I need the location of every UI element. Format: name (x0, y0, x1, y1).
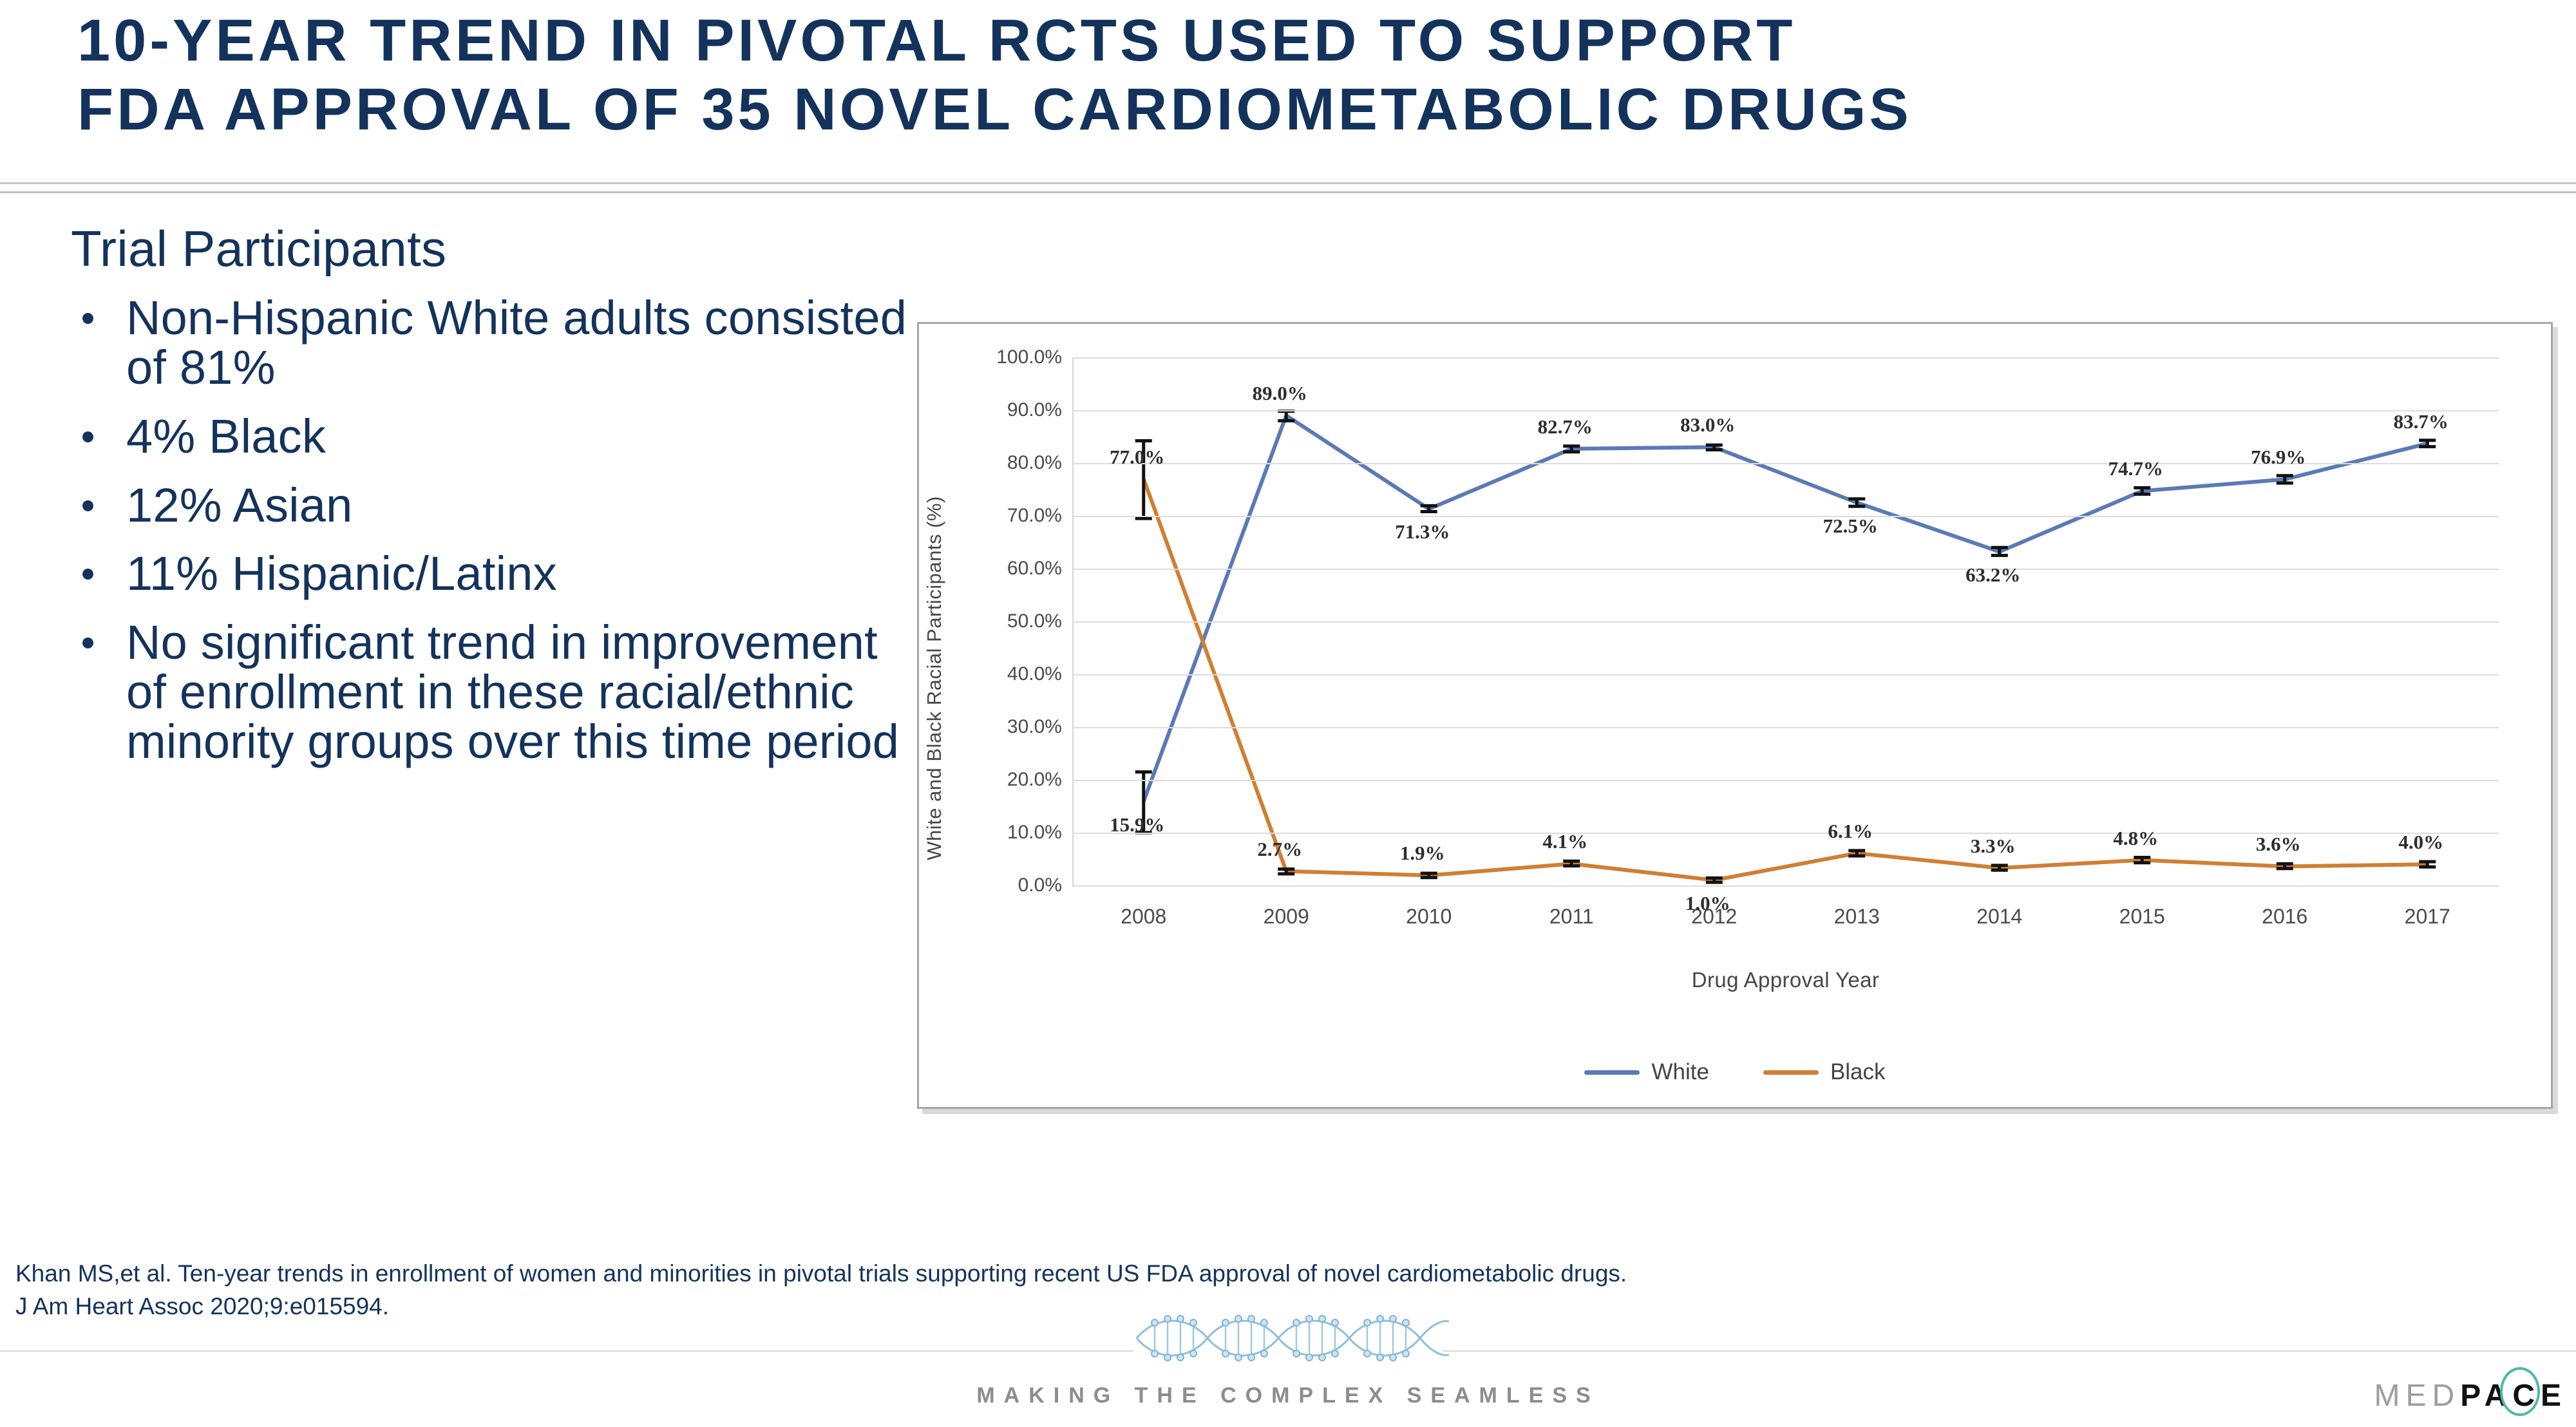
data-label: 2.7% (1257, 838, 1302, 861)
x-axis-tick-label: 2017 (2405, 905, 2450, 929)
gridline (1072, 674, 2499, 676)
bullet-dot-icon (82, 313, 93, 324)
dna-helix-icon (1130, 1314, 1452, 1363)
y-axis-tick-label: 90.0% (1007, 399, 1062, 421)
bullet-text: 11% Hispanic/Latinx (126, 547, 557, 600)
y-axis-title: White and Black Racial Participants (%) (915, 324, 954, 1032)
legend-swatch-icon (1584, 1070, 1640, 1075)
y-axis-tick-label: 0.0% (1018, 874, 1062, 896)
y-axis-tick-label: 80.0% (1007, 452, 1062, 474)
bullet-dot-icon (82, 431, 93, 442)
x-axis-tick-label: 2013 (1834, 905, 1880, 929)
title-line-1: 10-Year Trend in Pivotal RCTs Used to Su… (77, 6, 2512, 75)
gridline (1072, 727, 2499, 728)
data-label: 77.0% (1110, 446, 1164, 469)
data-label: 3.3% (1971, 835, 2016, 858)
section-heading: Trial Participants (71, 222, 927, 276)
y-axis-tick-label: 30.0% (1007, 716, 1062, 738)
footer-divider-right (1443, 1350, 2576, 1352)
data-label: 1.0% (1685, 892, 1730, 915)
list-item: Non-Hispanic White adults consisted of 8… (71, 294, 927, 393)
list-item: 11% Hispanic/Latinx (71, 549, 927, 599)
slide-canvas: 10-Year Trend in Pivotal RCTs Used to Su… (0, 0, 2576, 1427)
x-axis-tick-label: 2016 (2262, 905, 2307, 929)
y-axis-tick-label: 10.0% (1007, 822, 1062, 844)
data-label: 3.6% (2256, 833, 2301, 856)
plot-area: 0.0%10.0%20.0%30.0%40.0%50.0%60.0%70.0%8… (1072, 357, 2499, 885)
data-label: 4.0% (2398, 831, 2443, 854)
logo-pace-text: PACE (2460, 1378, 2567, 1413)
data-label: 89.0% (1253, 382, 1307, 405)
bullet-dot-icon (82, 500, 93, 511)
gridline (1072, 780, 2499, 781)
logo-med-text: MED (2374, 1378, 2461, 1413)
title-line-2: FDA Approval of 35 Novel Cardiometabolic… (77, 75, 2512, 144)
error-bar (1278, 411, 1294, 421)
data-label: 4.1% (1542, 830, 1587, 853)
y-axis-tick-label: 50.0% (1007, 610, 1062, 632)
data-label: 4.8% (2113, 827, 2158, 850)
y-axis-tick-label: 70.0% (1007, 505, 1062, 527)
y-axis-tick-label: 20.0% (1007, 769, 1062, 791)
citation-line-1: Khan MS,et al. Ten-year trends in enroll… (15, 1257, 2269, 1290)
x-axis-tick-label: 2010 (1406, 905, 1452, 929)
data-label: 72.5% (1823, 515, 1878, 538)
gridline (1072, 516, 2499, 517)
data-label: 6.1% (1828, 820, 1873, 843)
chart-legend: WhiteBlack (919, 1059, 2551, 1085)
legend-label: Black (1830, 1059, 1886, 1085)
error-bar (1421, 506, 1437, 511)
data-label: 83.0% (1680, 413, 1735, 437)
page-title: 10-Year Trend in Pivotal RCTs Used to Su… (77, 6, 2512, 144)
y-axis-tick-label: 60.0% (1007, 558, 1062, 580)
x-axis-tick-label: 2009 (1264, 905, 1309, 929)
list-item: 12% Asian (71, 481, 927, 531)
series-line-black (1144, 479, 2428, 880)
bullet-list: Non-Hispanic White adults consisted of 8… (71, 294, 927, 768)
medpace-logo: MED PACE (2374, 1378, 2567, 1413)
data-label: 83.7% (2394, 410, 2448, 433)
data-label: 71.3% (1395, 520, 1450, 543)
legend-label: White (1651, 1059, 1709, 1085)
bullet-dot-icon (82, 569, 93, 580)
bullet-text: 4% Black (126, 410, 326, 463)
y-axis-tick-label: 40.0% (1007, 663, 1062, 685)
x-axis-tick-label: 2014 (1976, 905, 2022, 929)
logo-ring-icon (2500, 1367, 2540, 1416)
x-axis-tick-label: 2011 (1549, 905, 1594, 929)
list-item: 4% Black (71, 412, 927, 462)
gridline (1072, 357, 2499, 359)
gridline (1072, 410, 2499, 411)
data-label: 1.9% (1400, 842, 1445, 865)
gridline (1072, 621, 2499, 623)
data-label: 74.7% (2108, 457, 2163, 480)
footer-divider-left (0, 1350, 1133, 1352)
bullet-dot-icon (82, 638, 93, 648)
x-axis-title: Drug Approval Year (1692, 968, 1880, 992)
bullet-text: No significant trend in improvement of e… (126, 616, 899, 768)
data-label: 82.7% (1538, 415, 1593, 439)
gridline (1072, 569, 2499, 570)
citation: Khan MS,et al. Ten-year trends in enroll… (15, 1257, 2269, 1323)
data-label: 15.9% (1110, 813, 1164, 836)
data-label: 76.9% (2251, 446, 2306, 469)
gridline (1072, 885, 2499, 887)
trial-participants-section: Trial Participants Non-Hispanic White ad… (71, 222, 927, 786)
list-item: No significant trend in improvement of e… (71, 618, 927, 767)
footer-tagline: MAKING THE COMPLEX SEAMLESS (0, 1383, 2576, 1408)
title-divider (0, 182, 2576, 193)
line-chart: White and Black Racial Participants (%) … (917, 322, 2553, 1109)
legend-swatch-icon (1763, 1070, 1819, 1075)
bullet-text: Non-Hispanic White adults consisted of 8… (126, 291, 907, 394)
data-label: 63.2% (1965, 563, 2020, 587)
legend-item-black[interactable]: Black (1763, 1059, 1886, 1085)
x-axis-tick-label: 2008 (1121, 905, 1166, 929)
legend-item-white[interactable]: White (1584, 1059, 1709, 1085)
series-line-white (1144, 415, 2428, 801)
y-axis-tick-label: 100.0% (996, 346, 1062, 368)
x-axis-tick-label: 2015 (2119, 905, 2165, 929)
bullet-text: 12% Asian (126, 478, 353, 532)
